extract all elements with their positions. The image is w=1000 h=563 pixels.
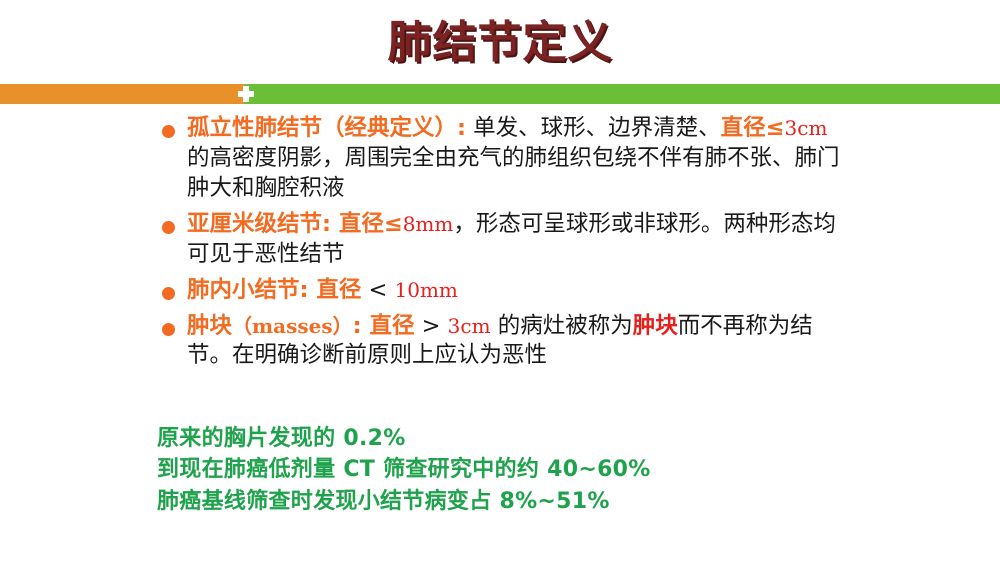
text-segment: 10mm [395, 278, 458, 302]
note-line: 原来的胸片发现的 0.2% [157, 423, 917, 454]
text-segment: < [361, 277, 394, 303]
text-segment: 孤立性肺结节（经典定义）: [187, 115, 466, 141]
plus-icon [237, 85, 255, 103]
divider-bar [0, 84, 1000, 104]
list-item-text: 肺内小结节: 直径 < 10mm [187, 276, 857, 306]
list-item: 亚厘米级结节: 直径≤8mm，形态可呈球形或非球形。两种形态均可见于恶性结节 [157, 210, 857, 270]
list-item: 孤立性肺结节（经典定义）: 单发、球形、边界清楚、直径≤3cm 的高密度阴影，周… [157, 114, 857, 204]
text-segment: : [353, 313, 362, 339]
text-segment: 直径 [362, 313, 415, 339]
list-item-text: 肿块（masses）: 直径 > 3cm 的病灶被称为肿块而不再称为结节。在明确… [187, 312, 857, 372]
text-segment: 亚厘米级结节: 直径≤ [187, 211, 403, 237]
page-title-container: 肺结节定义 [0, 20, 1000, 82]
notes-block: 原来的胸片发现的 0.2%到现在肺癌低剂量 CT 筛查研究中的约 40~60%肺… [157, 423, 917, 517]
text-segment: > [414, 313, 447, 339]
divider-bar-green-segment [244, 84, 1000, 104]
bullet-dot-icon [162, 125, 175, 138]
text-segment: 3cm [785, 116, 828, 140]
page-title: 肺结节定义 [388, 20, 613, 66]
text-segment: 8mm [403, 212, 454, 236]
bullet-dot-icon [162, 323, 175, 336]
text-segment: 的病灶被称为 [491, 313, 633, 339]
text-segment: 3cm [448, 314, 491, 338]
bullet-dot-icon [162, 287, 175, 300]
list-item: 肺内小结节: 直径 < 10mm [157, 276, 857, 306]
text-segment: （masses） [232, 314, 353, 338]
list-item: 肿块（masses）: 直径 > 3cm 的病灶被称为肿块而不再称为结节。在明确… [157, 312, 857, 372]
text-segment: 肿块 [633, 313, 678, 339]
text-segment: 肺内小结节: 直径 [187, 277, 361, 303]
bullet-dot-icon [162, 221, 175, 234]
text-segment: 直径≤ [721, 115, 785, 141]
text-segment: 的高密度阴影，周围完全由充气的肺组织包绕不伴有肺不张、肺门肿大和胸腔积液 [187, 145, 840, 201]
bullet-list: 孤立性肺结节（经典定义）: 单发、球形、边界清楚、直径≤3cm 的高密度阴影，周… [157, 114, 857, 377]
note-line: 肺癌基线筛查时发现小结节病变占 8%~51% [157, 486, 917, 517]
list-item-text: 孤立性肺结节（经典定义）: 单发、球形、边界清楚、直径≤3cm 的高密度阴影，周… [187, 114, 857, 204]
note-line: 到现在肺癌低剂量 CT 筛查研究中的约 40~60% [157, 454, 917, 485]
text-segment: 单发、球形、边界清楚、 [466, 115, 721, 141]
text-segment: 肿块 [187, 313, 232, 339]
slide-canvas: 肺结节定义 孤立性肺结节（经典定义）: 单发、球形、边界清楚、直径≤3cm 的高… [0, 0, 1000, 563]
divider-bar-orange-segment [0, 84, 244, 104]
list-item-text: 亚厘米级结节: 直径≤8mm，形态可呈球形或非球形。两种形态均可见于恶性结节 [187, 210, 857, 270]
